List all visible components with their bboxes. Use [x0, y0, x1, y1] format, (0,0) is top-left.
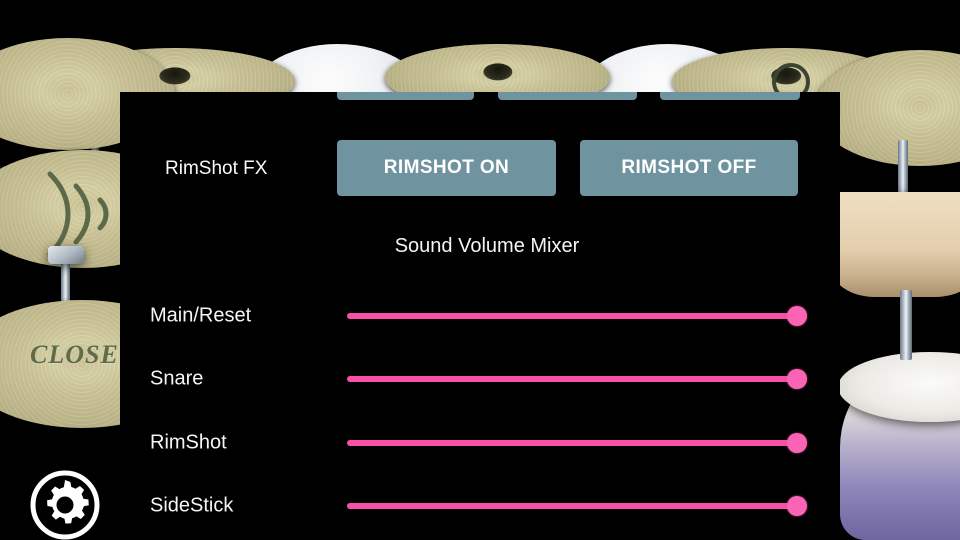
rimshot-off-button[interactable]: RIMSHOT OFF: [580, 140, 798, 196]
volume-slider[interactable]: [347, 304, 797, 328]
closed-hihat-label: CLOSE: [30, 340, 119, 370]
sound-volume-mixer-title: Sound Volume Mixer: [120, 235, 840, 258]
slider-knob[interactable]: [787, 306, 807, 326]
volume-slider-label: Snare: [150, 368, 203, 391]
volume-slider[interactable]: [347, 431, 797, 455]
hihat-clutch-left: [48, 246, 84, 264]
volume-slider-label: RimShot: [150, 432, 227, 455]
cymbal-bell: [483, 63, 512, 80]
rimshot-fx-row: RimShot FX RIMSHOT ON RIMSHOT OFF: [120, 140, 840, 198]
tom-drum-right: [830, 192, 960, 297]
rimshot-on-button[interactable]: RIMSHOT ON: [337, 140, 556, 196]
rimshot-fx-label: RimShot FX: [165, 158, 267, 180]
volume-slider[interactable]: [347, 367, 797, 391]
partial-button-3[interactable]: [660, 92, 800, 100]
app-screen: CLOSE RimShot FX RIMSHOT ON RIM: [0, 0, 960, 540]
volume-slider-row: Snare: [120, 358, 840, 400]
gear-icon: [29, 469, 101, 540]
cymbal-bell: [159, 67, 190, 84]
settings-overlay-panel: RimShot FX RIMSHOT ON RIMSHOT OFF Sound …: [120, 92, 840, 540]
volume-slider-row: Main/Reset: [120, 295, 840, 337]
volume-slider-row: RimShot: [120, 422, 840, 464]
volume-slider-label: Main/Reset: [150, 305, 251, 328]
partial-button-row: [120, 92, 840, 100]
partial-button-1[interactable]: [337, 92, 474, 100]
volume-slider[interactable]: [347, 494, 797, 518]
slider-fill: [347, 440, 797, 446]
partial-button-2[interactable]: [498, 92, 637, 100]
volume-slider-row: SideStick: [120, 485, 840, 527]
tom-mount-right: [900, 290, 912, 360]
settings-gear-button[interactable]: [29, 469, 101, 540]
volume-slider-label: SideStick: [150, 495, 233, 518]
slider-fill: [347, 313, 797, 319]
slider-knob[interactable]: [787, 496, 807, 516]
slider-fill: [347, 503, 797, 509]
slider-knob[interactable]: [787, 433, 807, 453]
slider-fill: [347, 376, 797, 382]
slider-knob[interactable]: [787, 369, 807, 389]
